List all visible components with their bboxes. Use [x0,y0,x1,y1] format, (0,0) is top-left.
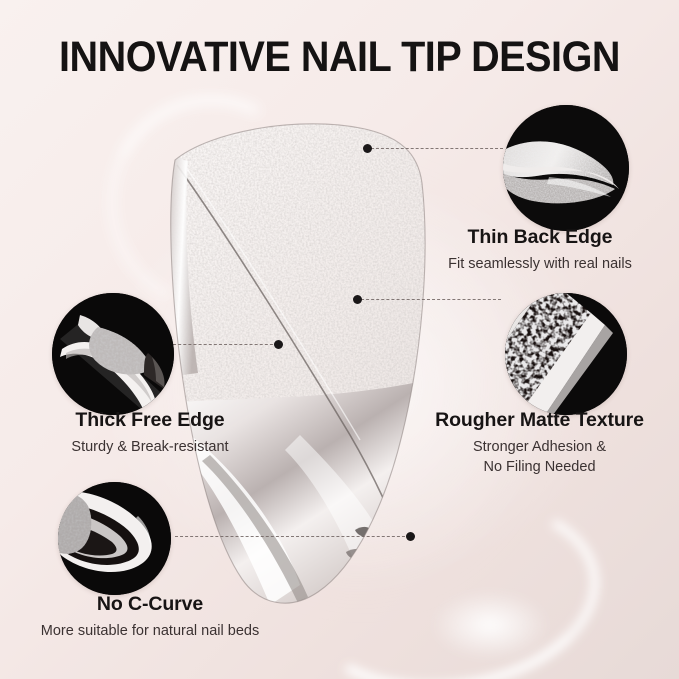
rougher-matte-texture-photo [505,293,627,415]
feature-subtitle: Sturdy & Break-resistant [0,437,300,457]
feature-label-no-c-curve: No C-Curve More suitable for natural nai… [0,592,300,641]
feature-label-thick-free-edge: Thick Free Edge Sturdy & Break-resistant [0,408,300,457]
feature-subtitle: More suitable for natural nail beds [0,621,300,641]
leader-dot-rougher-matte-texture [353,295,362,304]
thick-free-edge-photo [52,293,174,415]
thin-back-edge-photo [503,105,629,231]
leader-line-thin-back-edge [371,148,503,149]
feature-label-rougher-matte-texture: Rougher Matte Texture Stronger Adhesion … [400,408,679,477]
leader-line-rougher-matte-texture [361,299,501,300]
infographic-canvas: INNOVATIVE NAIL TIP DESIGN [0,0,679,679]
leader-line-no-c-curve [175,536,410,537]
leader-dot-thin-back-edge [363,144,372,153]
page-title: INNOVATIVE NAIL TIP DESIGN [27,35,652,80]
leader-line-thick-free-edge [168,344,278,345]
leader-dot-thick-free-edge [274,340,283,349]
leader-dot-no-c-curve [406,532,415,541]
feature-label-thin-back-edge: Thin Back Edge Fit seamlessly with real … [400,225,679,274]
feature-subtitle: Fit seamlessly with real nails [400,254,679,274]
feature-subtitle: Stronger Adhesion & No Filing Needed [400,437,679,477]
no-c-curve-photo [58,482,171,595]
